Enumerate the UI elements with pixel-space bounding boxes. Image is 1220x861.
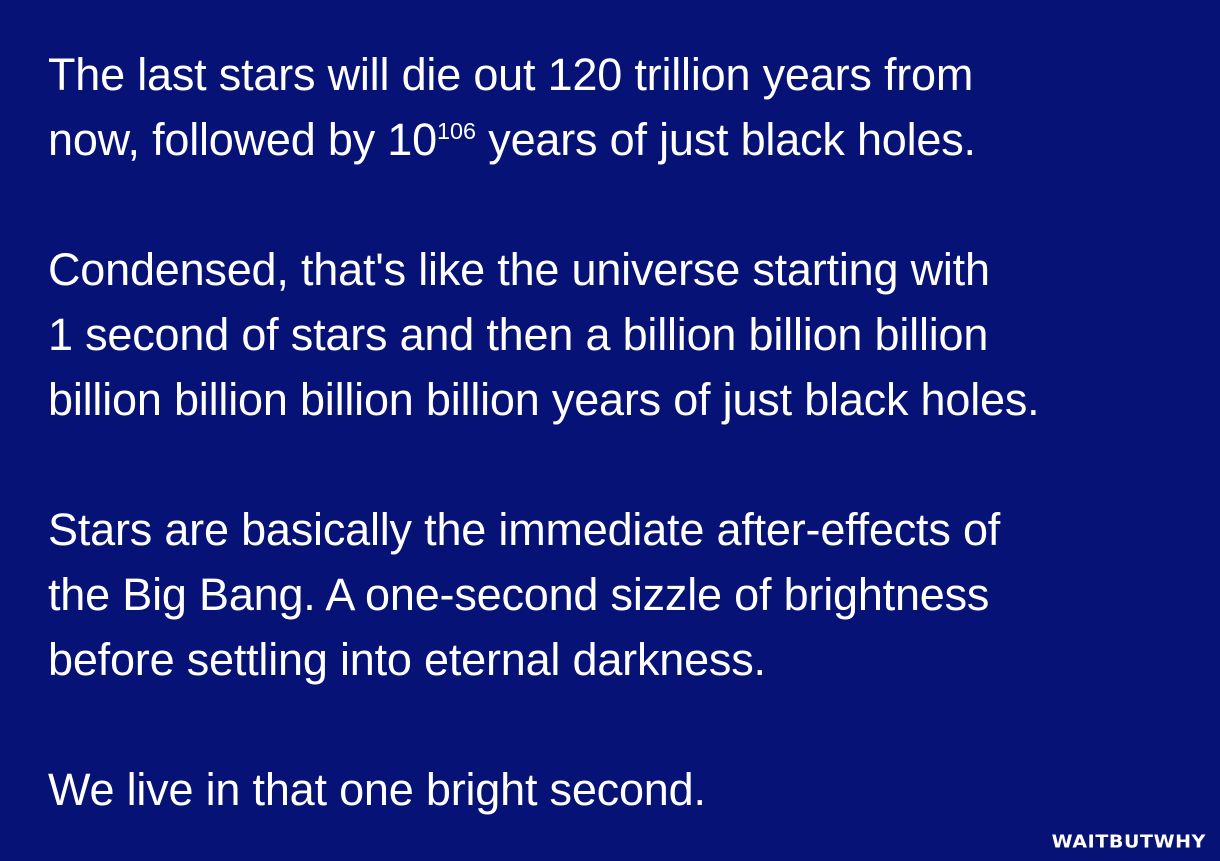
paragraph-1: The last stars will die out 120 trillion…	[48, 42, 1178, 172]
waitbutwhy-watermark: WAITBUTWHY	[1052, 832, 1206, 852]
paragraph-4: We live in that one bright second.	[48, 757, 1178, 822]
paragraph-2: Condensed, that's like the universe star…	[48, 237, 1178, 432]
exponent-superscript: 106	[437, 118, 476, 144]
paragraph-1-suffix: years of just black holes.	[476, 114, 976, 165]
quote-body: The last stars will die out 120 trillion…	[48, 42, 1178, 822]
quote-card: The last stars will die out 120 trillion…	[0, 0, 1220, 861]
paragraph-3: Stars are basically the immediate after-…	[48, 497, 1178, 692]
